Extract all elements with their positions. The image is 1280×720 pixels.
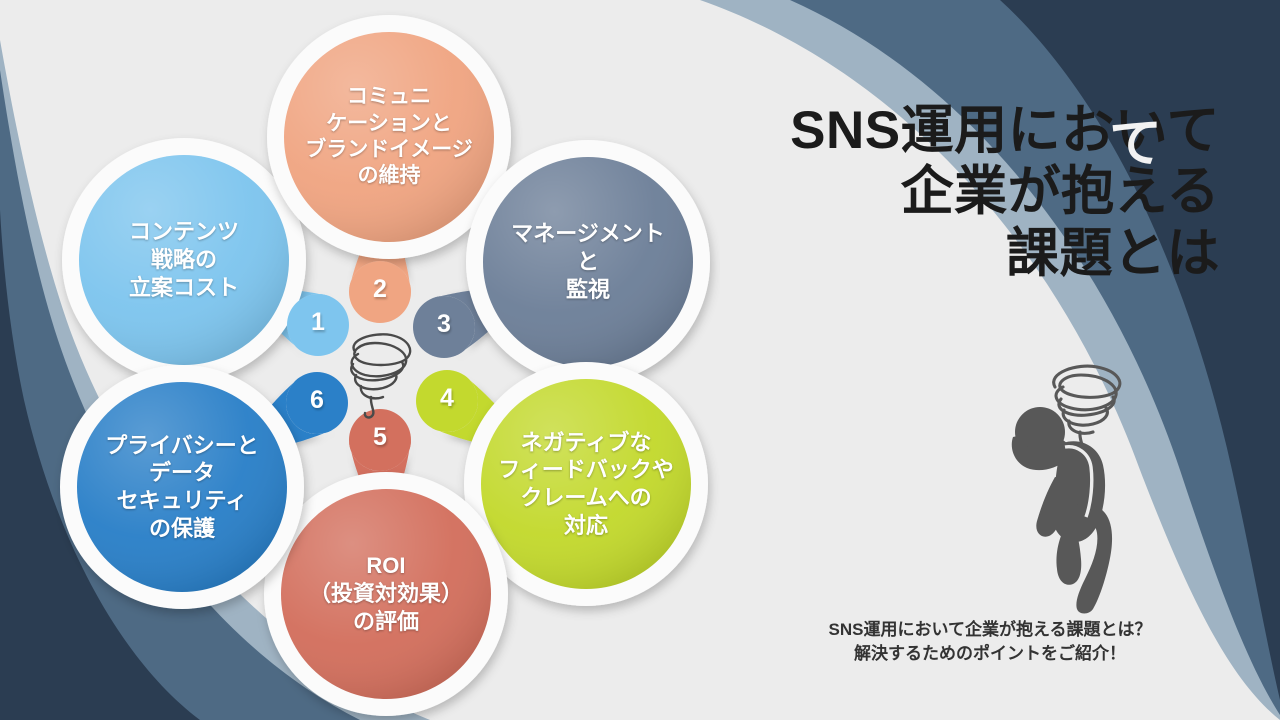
troubled-person-icon bbox=[985, 355, 1165, 615]
step-badge-2[interactable] bbox=[349, 261, 411, 323]
bubble-gloss-4 bbox=[481, 379, 691, 589]
bubble-gloss-2 bbox=[284, 32, 494, 242]
subtitle-line-1: SNS運用において企業が抱える課題とは？ bbox=[760, 618, 1220, 642]
bubble-gloss-3 bbox=[483, 157, 693, 367]
svg-text:て: て bbox=[1109, 114, 1162, 173]
subtitle-line-2: 解決するためのポイントをご紹介！ bbox=[760, 642, 1220, 666]
bubble-gloss-5 bbox=[281, 489, 491, 699]
bubble-gloss-1 bbox=[79, 155, 289, 365]
step-badge-4[interactable] bbox=[416, 370, 478, 432]
slide-canvas: SNS運用において 企業が抱える 課題とは て SNS運用において企業が抱える課… bbox=[0, 0, 1280, 720]
process-circle-diagram: コンテンツ 戦略の 立案コスト1コミュニ ケーションと ブランドイメージ の維持… bbox=[0, 0, 720, 720]
title-overlap-glyph: て bbox=[1105, 105, 1195, 177]
title-line-3: 課題とは bbox=[690, 223, 1220, 284]
subtitle: SNS運用において企業が抱える課題とは？ 解決するためのポイントをご紹介！ bbox=[760, 618, 1220, 666]
center-scribble-icon bbox=[337, 330, 417, 420]
step-badge-3[interactable] bbox=[413, 296, 475, 358]
bubble-gloss-6 bbox=[77, 382, 287, 592]
